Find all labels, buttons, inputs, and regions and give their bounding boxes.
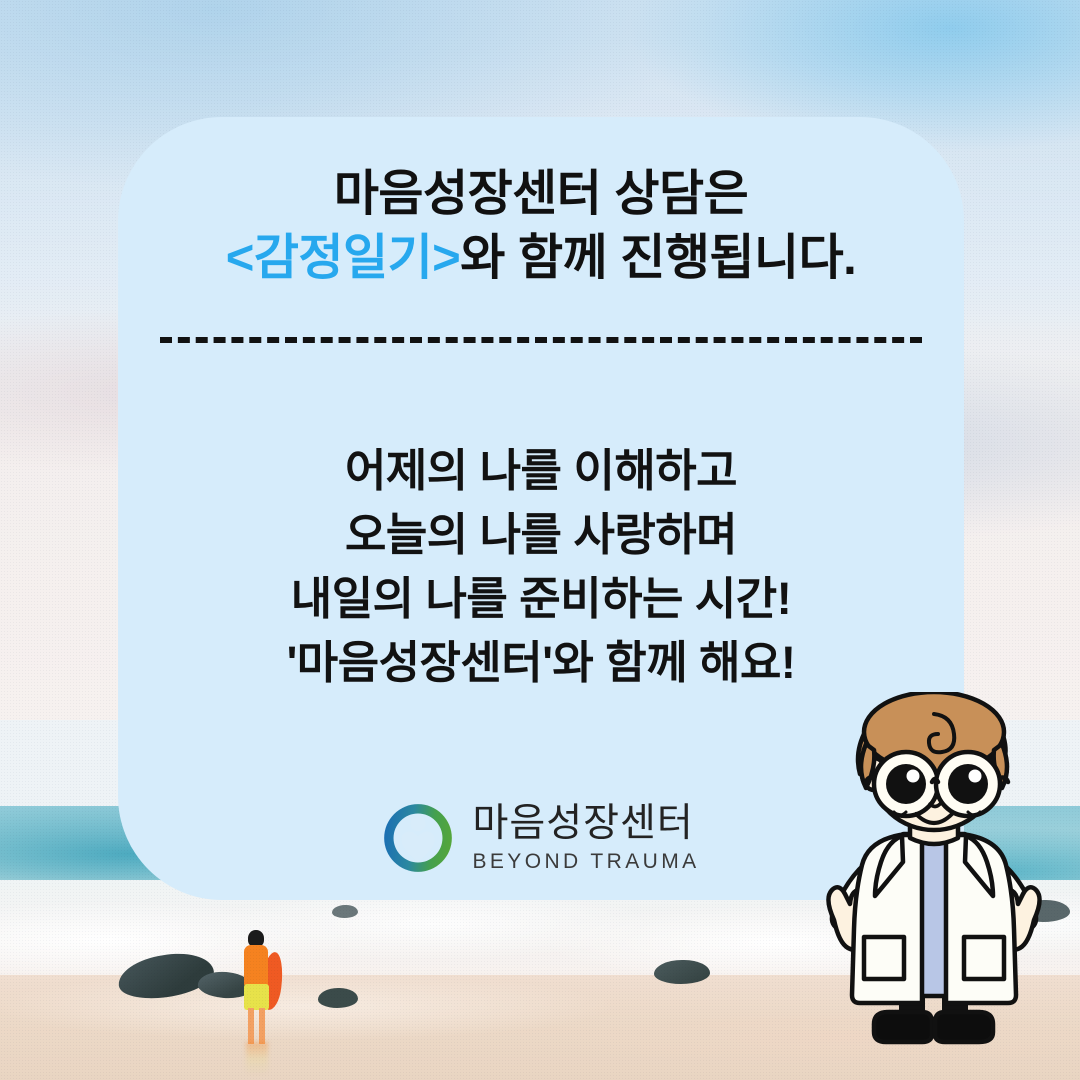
headline: 마음성장센터 상담은 <감정일기>와 함께 진행됩니다. xyxy=(118,163,964,290)
headline-highlight: <감정일기> xyxy=(226,231,461,285)
logo-wordmark: 마음성장센터 BEYOND TRAUMA xyxy=(472,804,699,872)
poster-canvas: 마음성장센터 상담은 <감정일기>와 함께 진행됩니다. 어제의 나를 이해하고… xyxy=(0,0,1080,1080)
dashed-divider xyxy=(160,337,922,343)
beyond-trauma-circle-logo-icon xyxy=(382,802,454,874)
logo-english-name: BEYOND TRAUMA xyxy=(472,851,699,872)
headline-line-2-rest: 와 함께 진행됩니다. xyxy=(460,231,856,285)
body-line: 어제의 나를 이해하고 xyxy=(118,439,964,503)
body-line: 오늘의 나를 사랑하며 xyxy=(118,503,964,567)
body-line: '마음성장센터'와 함께 해요! xyxy=(118,631,964,695)
headline-line-2: <감정일기>와 함께 진행됩니다. xyxy=(118,227,964,291)
body-line: 내일의 나를 준비하는 시간! xyxy=(118,567,964,631)
smiling-doctor-character xyxy=(782,692,1080,1080)
headline-line-1: 마음성장센터 상담은 xyxy=(118,163,964,227)
body-message: 어제의 나를 이해하고 오늘의 나를 사랑하며 내일의 나를 준비하는 시간! … xyxy=(118,439,964,695)
logo-korean-name: 마음성장센터 xyxy=(472,804,693,843)
